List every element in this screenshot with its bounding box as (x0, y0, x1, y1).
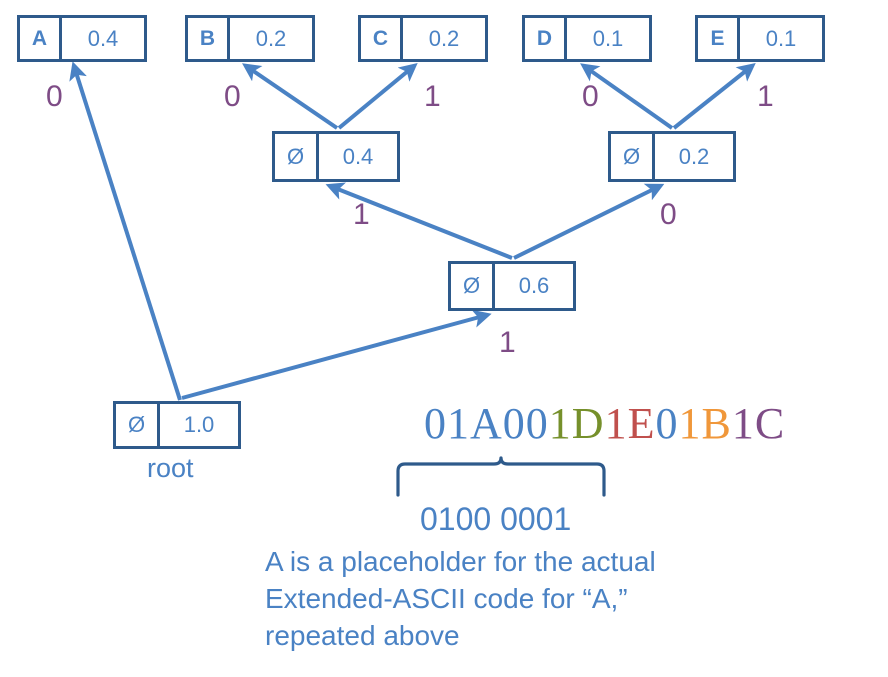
node-weight: 0.4 (319, 134, 397, 179)
node-weight: 1.0 (160, 404, 238, 446)
root-caption: root (147, 455, 194, 482)
explanation-line-2: repeated above (265, 617, 785, 654)
bit-label-n04-C: 1 (424, 82, 441, 112)
explanation-line-1: Extended-ASCII code for “A,” (265, 580, 785, 617)
leaf-node-D: D0.1 (522, 15, 652, 62)
node-symbol: Ø (275, 134, 319, 179)
huffman-tree-diagram: A0.4B0.2C0.2D0.1E0.1Ø0.4Ø0.2Ø0.6Ø1.0 011… (0, 0, 888, 677)
node-weight: 0.1 (740, 18, 822, 59)
edge-root-to-A (74, 66, 180, 400)
edge-root-to-n06 (182, 315, 487, 398)
leaf-node-B: B0.2 (185, 15, 315, 62)
edge-n02-to-E (674, 66, 752, 128)
node-symbol: C (361, 18, 403, 59)
node-symbol: Ø (116, 404, 160, 446)
bitstring-segment-3: 0 (655, 399, 678, 448)
node-symbol: D (525, 18, 567, 59)
internal-node-root: Ø1.0 (113, 401, 241, 449)
node-symbol: Ø (451, 264, 495, 308)
leaf-node-A: A0.4 (17, 15, 147, 62)
leaf-node-E: E0.1 (695, 15, 825, 62)
bit-label-n02-E: 1 (757, 82, 774, 112)
encoded-bitstring: 01A001D1E01B1C (424, 398, 785, 449)
bitstring-segment-2: 1E (605, 399, 656, 448)
bitstring-segment-1: 1D (549, 399, 605, 448)
node-symbol: E (698, 18, 740, 59)
bitstring-segment-5: 1C (732, 399, 785, 448)
leaf-node-C: C0.2 (358, 15, 488, 62)
edge-n04-to-B (246, 66, 337, 128)
bit-label-n06-n04: 1 (353, 200, 370, 230)
node-symbol: A (20, 18, 62, 59)
node-weight: 0.2 (655, 134, 733, 179)
bit-label-root-A: 0 (46, 82, 63, 112)
node-weight: 0.1 (567, 18, 649, 59)
internal-node-n04: Ø0.4 (272, 131, 400, 182)
internal-node-n06: Ø0.6 (448, 261, 576, 311)
byte-label: 0100 0001 (420, 503, 571, 535)
edge-n04-to-C (339, 66, 414, 128)
node-weight: 0.6 (495, 264, 573, 308)
brace-annotation (395, 455, 610, 502)
node-symbol: Ø (611, 134, 655, 179)
explanation-line-0: A is a placeholder for the actual (265, 543, 785, 580)
bit-label-n04-B: 0 (224, 82, 241, 112)
bit-label-root-n06: 1 (499, 328, 516, 358)
bit-label-n06-n02: 0 (660, 200, 677, 230)
node-weight: 0.2 (403, 18, 485, 59)
node-symbol: B (188, 18, 230, 59)
bit-label-n02-D: 0 (582, 82, 599, 112)
node-weight: 0.4 (62, 18, 144, 59)
node-weight: 0.2 (230, 18, 312, 59)
bitstring-segment-4: 1B (678, 399, 731, 448)
internal-node-n02: Ø0.2 (608, 131, 736, 182)
edge-n06-to-n02 (514, 186, 660, 258)
bitstring-segment-0: 01A00 (424, 399, 549, 448)
explanation-text: A is a placeholder for the actualExtende… (265, 543, 785, 655)
